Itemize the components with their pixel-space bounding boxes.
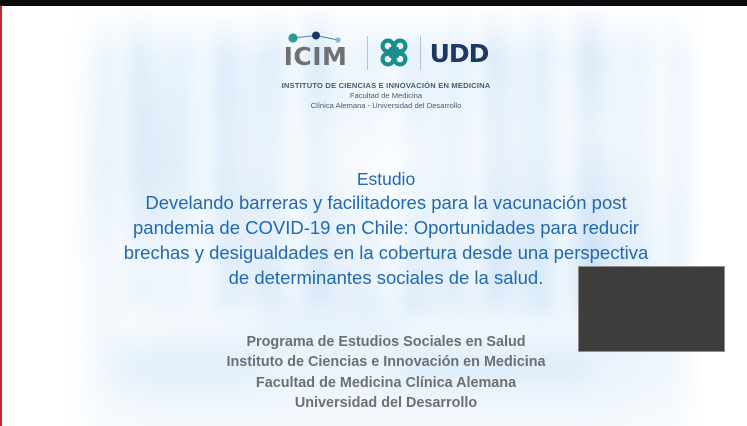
title-slide[interactable]: ICIM UDD INSTITUTO D (70, 6, 702, 426)
institution-lines: INSTITUTO DE CIENCIAS E INNOVACIÓN EN ME… (70, 81, 702, 111)
logo-band: ICIM UDD INSTITUTO D (70, 30, 702, 111)
clover-molecule-symbol-icon (377, 35, 411, 71)
logo-row: ICIM UDD (70, 30, 702, 76)
video-participant-tile[interactable] (578, 266, 725, 352)
left-edge-accent (0, 6, 2, 426)
page-title-line: Develando barreras y facilitadores para … (82, 191, 690, 216)
institution-line-1: INSTITUTO DE CIENCIAS E INNOVACIÓN EN ME… (70, 81, 702, 91)
icim-wordmark: ICIM (284, 44, 358, 69)
logo-divider-right (420, 36, 421, 70)
study-eyebrow-label: Estudio (82, 168, 690, 190)
page-title-line: pandemia de COVID-19 en Chile: Oportunid… (82, 216, 690, 241)
logo-divider-left (367, 36, 368, 70)
institution-line-2: Facultad de Medicina (70, 91, 702, 101)
affiliation-line: Instituto de Ciencias e Innovación en Me… (82, 352, 690, 372)
icim-logo: ICIM (284, 31, 358, 75)
affiliation-line: Universidad del Desarrollo (82, 393, 690, 413)
page-title-line: brechas y desigualdades en la cobertura … (82, 241, 690, 266)
presentation-viewer: ICIM UDD INSTITUTO D (0, 0, 747, 426)
institution-line-3: Clínica Alemana - Universidad del Desarr… (70, 101, 702, 111)
udd-wordmark: UDD (430, 41, 489, 66)
affiliation-line: Facultad de Medicina Clínica Alemana (82, 373, 690, 393)
